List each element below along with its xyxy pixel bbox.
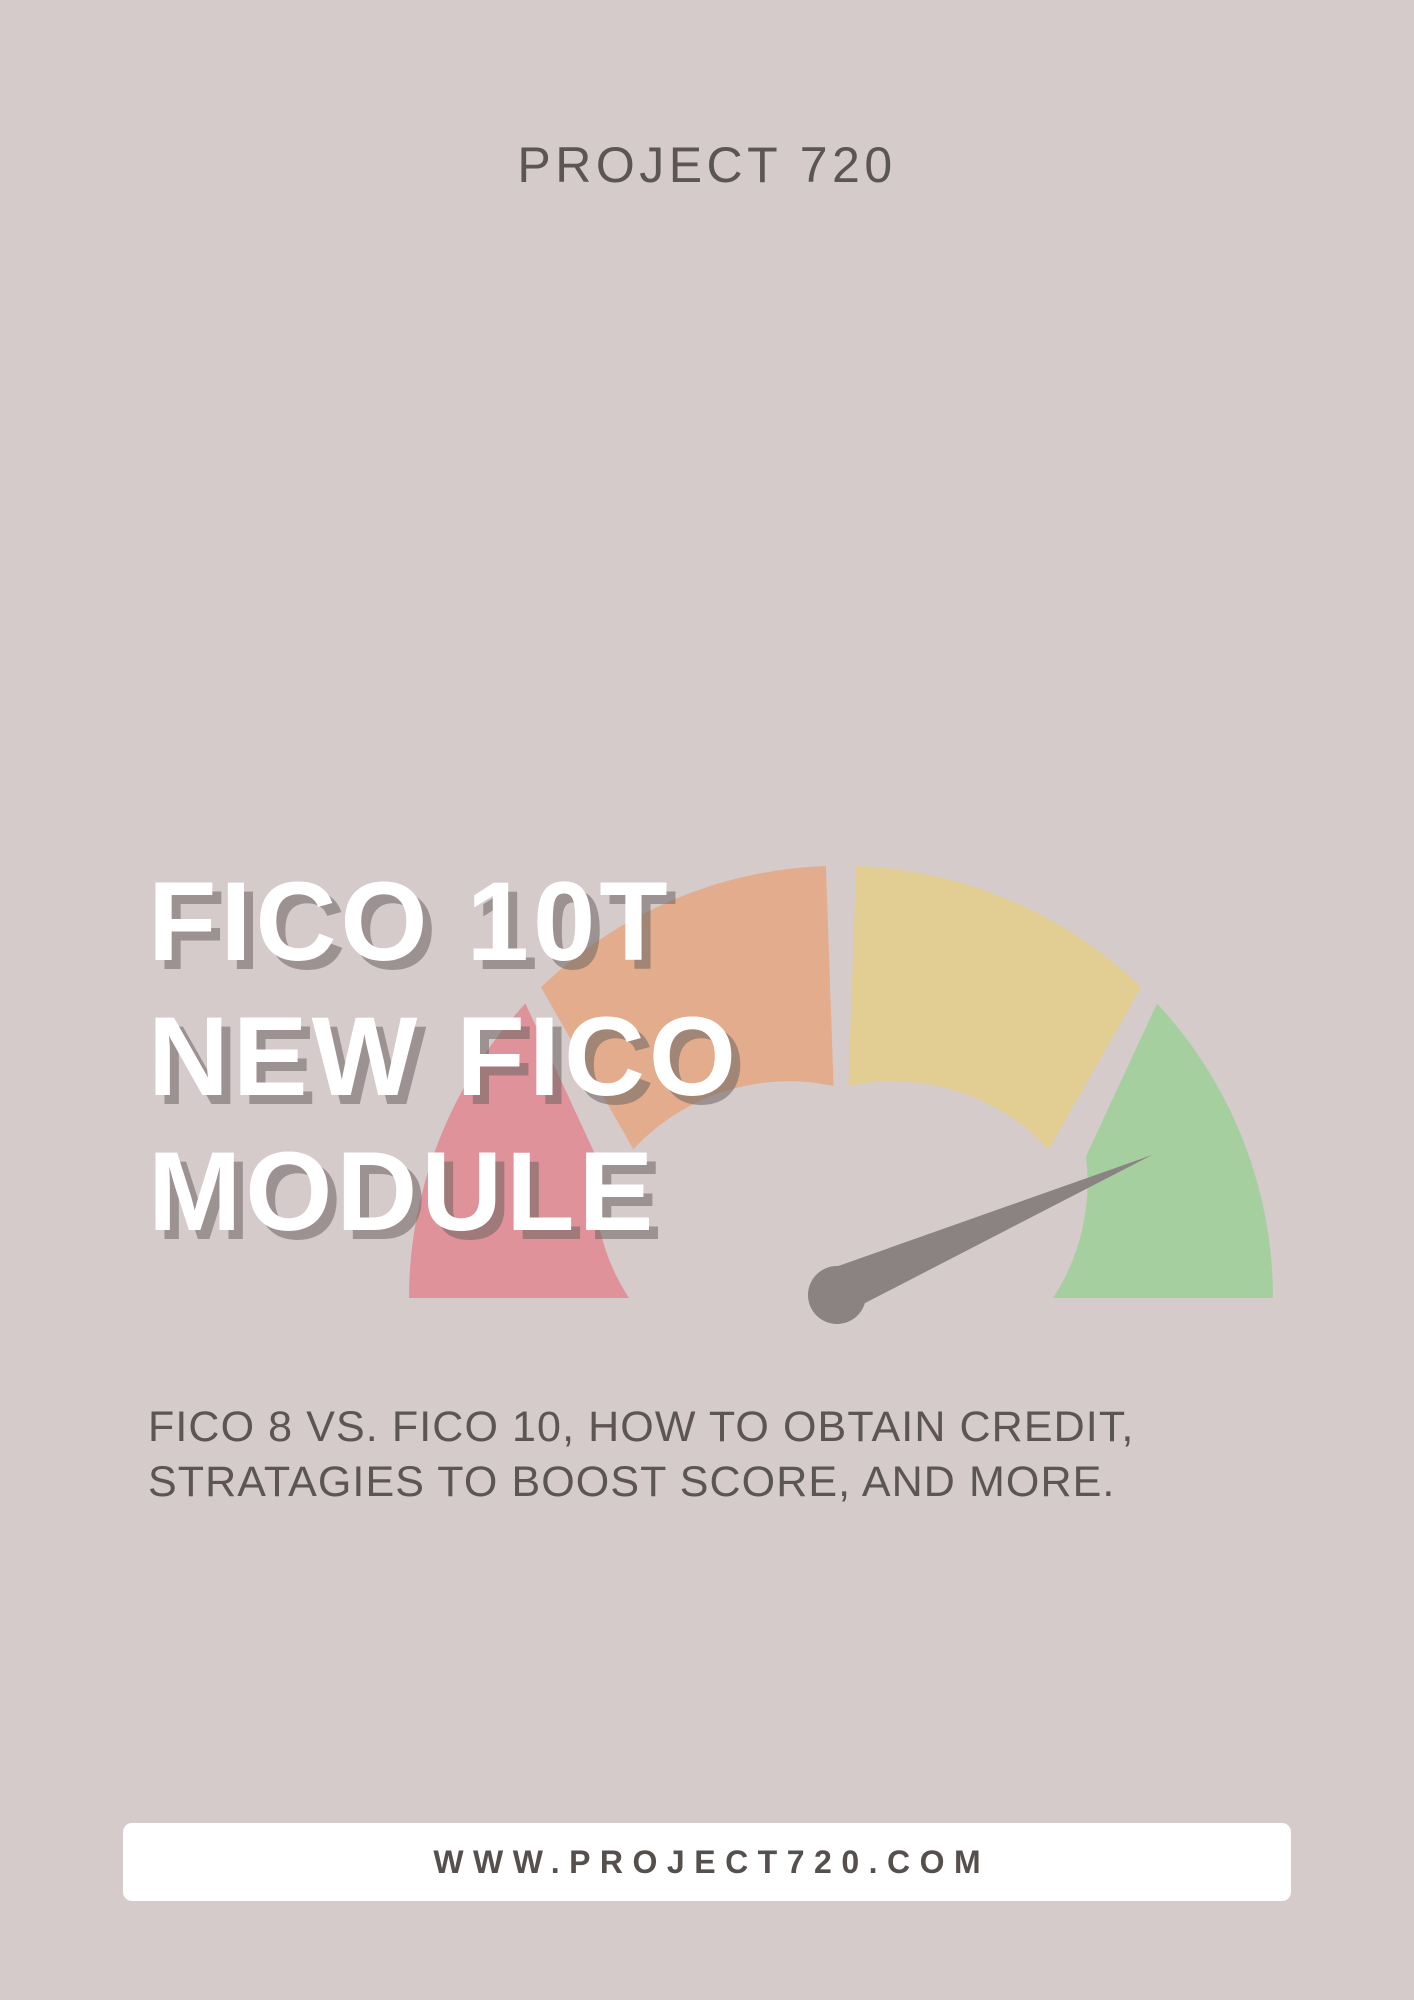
gauge-needle-hub	[808, 1266, 866, 1324]
footer-url-text[interactable]: WWW.PROJECT720.COM	[424, 1844, 990, 1881]
page-subtitle: FICO 8 VS. FICO 10, HOW TO OBTAIN CREDIT…	[148, 1400, 1238, 1510]
poster-canvas: PROJECT 720 FICO 10T NEW FICO MODULE FIC…	[0, 0, 1414, 2000]
brand-title: PROJECT 720	[0, 140, 1414, 190]
page-title: FICO 10T NEW FICO MODULE	[148, 855, 1198, 1260]
footer-url-bar[interactable]: WWW.PROJECT720.COM	[123, 1823, 1291, 1901]
